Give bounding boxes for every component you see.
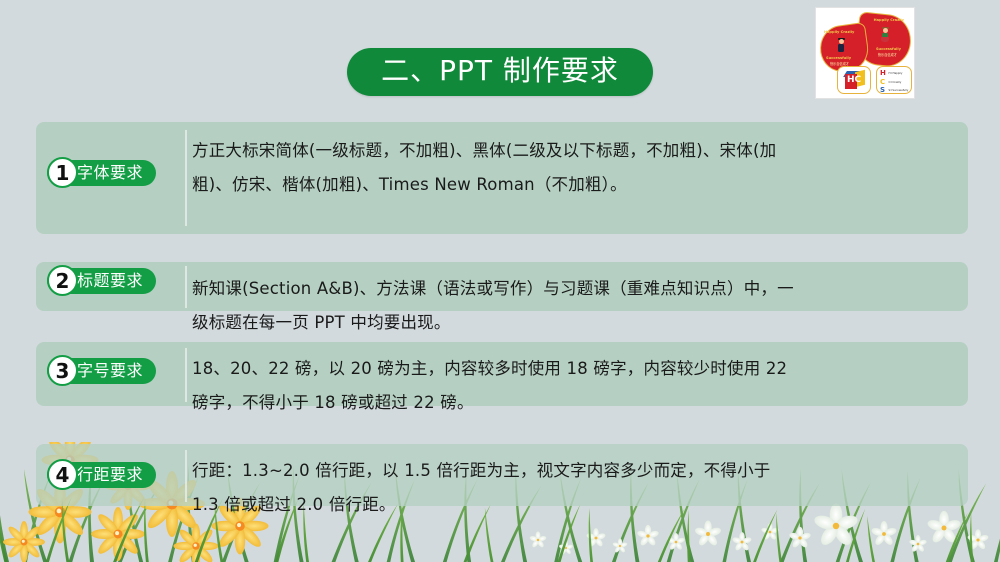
row-badge-3[interactable]: 字号要求 3	[47, 358, 156, 384]
row-label-1: 字体要求	[77, 165, 143, 181]
logo-left-top-text: Happily Crazily	[824, 30, 854, 35]
row-text-3: 18、20、22 磅，以 20 磅为主，内容较多时使用 18 磅字，内容较少时使…	[192, 352, 974, 420]
row-badge-2[interactable]: 标题要求 2	[47, 268, 156, 294]
row-label-2: 标题要求	[77, 273, 143, 289]
divider-3	[185, 348, 187, 402]
divider-4	[185, 450, 187, 502]
row-1-line-1: 方正大标宋简体(一级标题，不加粗)、黑体(二级及以下标题，不加粗)、宋体(加	[192, 134, 974, 168]
row-2-line-2: 级标题在每一页 PPT 中均要出现。	[192, 306, 974, 340]
row-label-3: 字号要求	[77, 363, 143, 379]
row-4-line-2: 1.3 倍或超过 2.0 倍行距。	[192, 488, 974, 522]
row-number-3: 3	[47, 355, 78, 386]
slide-canvas: Happily Crazily Successfully 快乐自信成才 Happ…	[0, 0, 1000, 562]
row-text-1: 方正大标宋简体(一级标题，不加粗)、黑体(二级及以下标题，不加粗)、宋体(加 粗…	[192, 134, 974, 202]
row-4-line-1: 行距：1.3~2.0 倍行距，以 1.5 倍行距为主，视文字内容多少而定，不得小…	[192, 454, 974, 488]
row-badge-4[interactable]: 行距要求 4	[47, 462, 156, 488]
row-text-2: 新知课(Section A&B)、方法课（语法或写作）与习题课（重难点知识点）中…	[192, 272, 974, 340]
row-2-line-1: 新知课(Section A&B)、方法课（语法或写作）与习题课（重难点知识点）中…	[192, 272, 974, 306]
logo-right-top-text: Happily Crazily	[874, 18, 904, 23]
row-1-line-2: 粗)、仿宋、楷体(加粗)、Times New Roman（不加粗）。	[192, 168, 974, 202]
slide-title-container: 二、PPT 制作要求	[0, 48, 1000, 96]
page-title: 二、PPT 制作要求	[347, 48, 653, 96]
row-label-4: 行距要求	[77, 467, 143, 483]
row-number-2: 2	[47, 265, 78, 296]
row-text-4: 行距：1.3~2.0 倍行距，以 1.5 倍行距为主，视文字内容多少而定，不得小…	[192, 454, 974, 522]
row-3-line-1: 18、20、22 磅，以 20 磅为主，内容较多时使用 18 磅字，内容较少时使…	[192, 352, 974, 386]
row-3-line-2: 磅字，不得小于 18 磅或超过 22 磅。	[192, 386, 974, 420]
logo-girl-figure	[881, 26, 889, 42]
divider-2	[185, 266, 187, 308]
row-number-4: 4	[47, 459, 78, 490]
row-number-1: 1	[47, 157, 78, 188]
row-badge-1[interactable]: 字体要求 1	[47, 160, 156, 186]
divider-1	[185, 130, 187, 226]
